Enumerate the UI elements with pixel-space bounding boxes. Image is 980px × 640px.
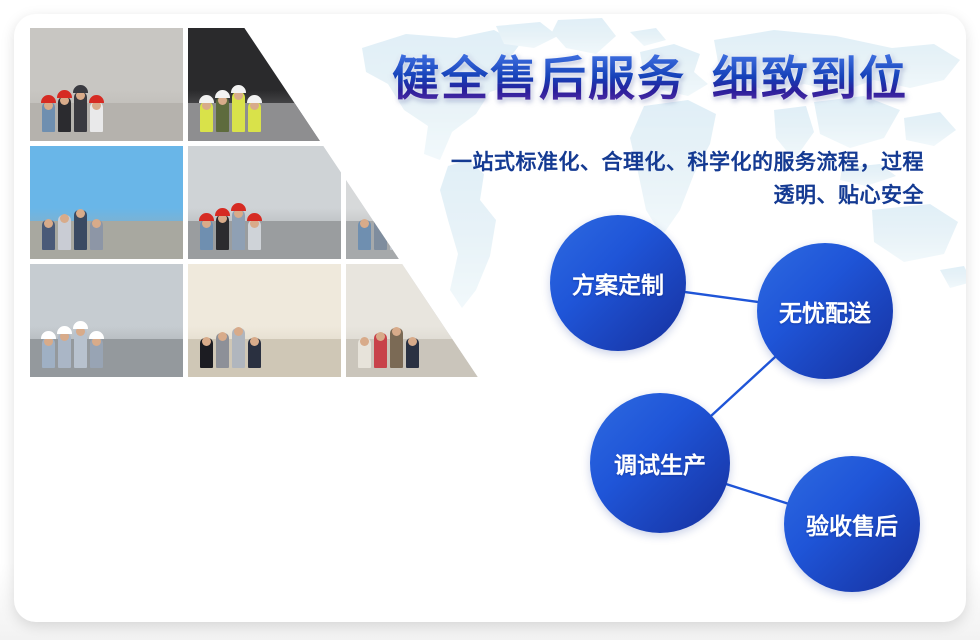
process-node-label: 调试生产	[614, 446, 706, 480]
process-node-delivery[interactable]: 无忧配送	[757, 243, 893, 379]
poster-root: 健全售后服务细致到位 一站式标准化、合理化、科学化的服务流程，过程 透明、贴心安…	[0, 0, 980, 640]
process-node-label: 无忧配送	[779, 294, 871, 328]
process-node-plan[interactable]: 方案定制	[550, 215, 686, 351]
process-node-accept[interactable]: 验收售后	[784, 456, 920, 592]
process-connector	[683, 292, 759, 302]
process-connector	[725, 484, 789, 504]
service-process-diagram: 方案定制无忧配送调试生产验收售后	[14, 14, 966, 622]
poster-card: 健全售后服务细致到位 一站式标准化、合理化、科学化的服务流程，过程 透明、贴心安…	[14, 14, 966, 622]
process-node-label: 验收售后	[806, 507, 898, 541]
process-node-label: 方案定制	[572, 266, 664, 300]
process-node-produce[interactable]: 调试生产	[590, 393, 730, 533]
process-connector	[710, 356, 776, 417]
